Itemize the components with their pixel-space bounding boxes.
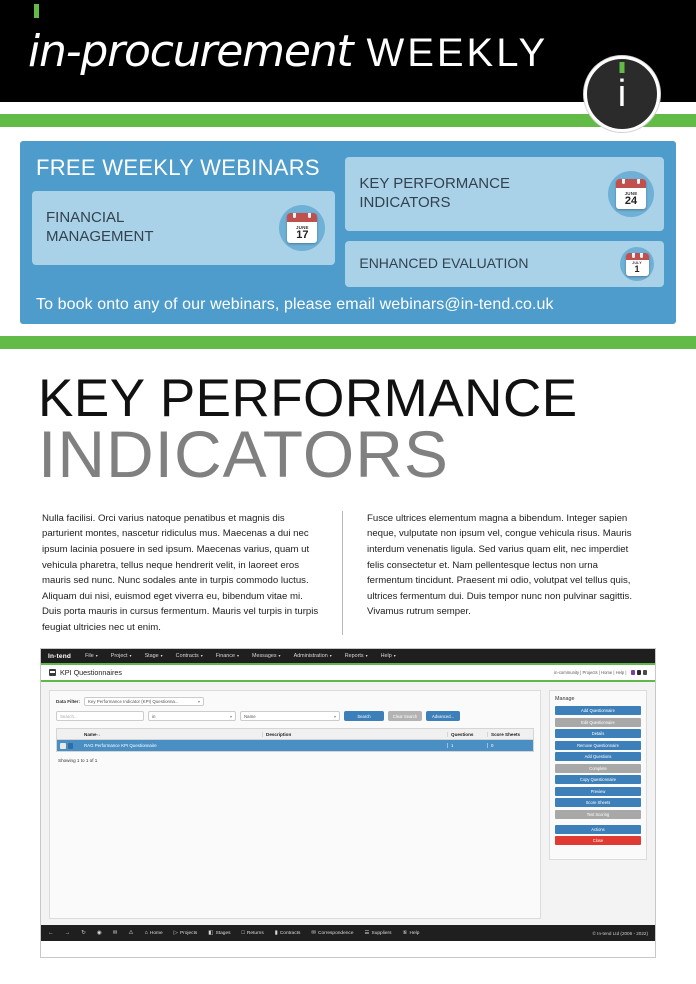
calendar-icon-top	[287, 213, 317, 222]
brand-logo: in-procurement WEEKLY	[28, 26, 548, 77]
roundel-letter: i	[618, 75, 626, 113]
export-icon[interactable]	[643, 670, 648, 675]
chevron-down-icon: ▾	[96, 653, 98, 658]
projects-icon: ▷	[174, 930, 178, 936]
app-brand-logo[interactable]: In-tend	[48, 653, 71, 660]
refresh-icon[interactable]: ↻	[81, 930, 86, 936]
webinar-card-financial-management[interactable]: FINANCIAL MANAGEMENT JUNE 17	[32, 191, 335, 265]
chevron-down-icon: ▾	[130, 653, 132, 658]
chevron-down-icon: ▾	[198, 699, 200, 704]
stages-icon: ◧	[208, 930, 213, 936]
webinar-banner-grid: FREE WEEKLY WEBINARS FINANCIAL MANAGEMEN…	[32, 151, 664, 287]
test-scoring-button[interactable]: Test Scoring	[555, 810, 641, 819]
copyright-text: © In-tend Ltd (2006 - 2022)	[593, 931, 648, 936]
table-column-score-sheets[interactable]: Score Sheets	[487, 732, 533, 737]
chevron-down-icon: ▾	[366, 653, 368, 658]
webinar-banner-left: FREE WEEKLY WEBINARS FINANCIAL MANAGEMEN…	[32, 151, 335, 287]
nav-item-messages[interactable]: Messages▾	[252, 653, 281, 659]
data-filter-row: Data Filter: Key Performance Indicator (…	[56, 697, 534, 706]
chevron-down-icon: ▾	[279, 653, 281, 658]
nav-item-administration[interactable]: Administration▾	[294, 653, 332, 659]
search-input[interactable]: Search...	[56, 711, 144, 721]
calendar-icon-body: JUNE 24	[616, 188, 646, 209]
webinar-card-key-performance-indicators[interactable]: KEY PERFORMANCE INDICATORS JUNE 24	[345, 157, 664, 231]
app-content-area: KPI Questionnaires in-community | Projec…	[41, 665, 655, 941]
webinar-card-label: KEY PERFORMANCE INDICATORS	[359, 175, 510, 213]
calendar-ring-left	[632, 253, 635, 258]
advanced-search-button[interactable]: Advanced...	[426, 711, 460, 721]
breadcrumb-text[interactable]: in-community | Projects | Home | Help |	[554, 670, 626, 675]
add-questions-button[interactable]: Add Questions	[555, 752, 641, 761]
chevron-down-icon: ▾	[334, 714, 336, 719]
row-score-sheets: 0	[487, 743, 533, 748]
webinar-card-label-line2: INDICATORS	[359, 194, 510, 213]
row-name: RAG Performance KPI Questionnaire	[81, 743, 262, 748]
complete-button[interactable]: Complete	[555, 764, 641, 773]
search-field-select[interactable]: Name ▾	[240, 711, 340, 721]
calendar-ring-right	[308, 213, 311, 218]
footer-help-link[interactable]: ⑥Help	[403, 930, 420, 936]
chevron-down-icon: ▾	[394, 653, 396, 658]
search-button[interactable]: Search	[344, 711, 384, 721]
footer-contracts-link[interactable]: ▮Contracts	[275, 930, 301, 936]
remove-questionnaire-button[interactable]: Remove Questionnaire	[555, 741, 641, 750]
preview-button[interactable]: Preview	[555, 787, 641, 796]
calendar-ring-left	[622, 179, 625, 184]
calendar-ring-left	[293, 213, 296, 218]
save-icon[interactable]	[637, 670, 642, 675]
app-page-header-left: KPI Questionnaires	[49, 668, 122, 677]
edit-questionnaire-button[interactable]: Edit Questionnaire	[555, 718, 641, 727]
add-questionnaire-button[interactable]: Add Questionnaire	[555, 706, 641, 715]
data-filter-label: Data Filter:	[56, 699, 80, 704]
table-row[interactable]: RAG Performance KPI Questionnaire 1 0	[57, 740, 533, 751]
app-top-navbar: In-tend File▾ Project▾ Stage▾ Contracts▾…	[41, 649, 655, 665]
webinar-banner: FREE WEEKLY WEBINARS FINANCIAL MANAGEMEN…	[20, 141, 676, 324]
score-sheets-button[interactable]: Score Sheets	[555, 798, 641, 807]
headline-line-2: INDICATORS	[38, 421, 658, 487]
manage-panel-title: Manage	[555, 696, 641, 702]
logo-sub-text: WEEKLY	[366, 31, 548, 76]
details-button[interactable]: Details	[555, 729, 641, 738]
search-field-value: Name	[244, 714, 256, 719]
search-operator-value: in	[152, 714, 155, 719]
page-title: KPI Questionnaires	[60, 668, 122, 677]
calendar-badge: JUNE 24	[608, 171, 654, 217]
breadcrumb[interactable]: in-community | Projects | Home | Help |	[554, 670, 647, 675]
data-filter-value: Key Performance Indicator (KPI) Question…	[88, 699, 179, 704]
webinar-card-label-line1: FINANCIAL	[46, 209, 154, 228]
calendar-badge: JULY 1	[620, 247, 654, 281]
nav-item-reports[interactable]: Reports▾	[345, 653, 368, 659]
row-questions: 1	[447, 743, 487, 748]
rule-zone	[0, 324, 696, 349]
breadcrumb-icons	[631, 670, 648, 675]
footer-suppliers-link[interactable]: ☰Suppliers	[365, 930, 392, 936]
webinar-banner-title: FREE WEEKLY WEBINARS	[36, 155, 335, 181]
search-row: Search... in ▾ Name ▾ Search Clear Searc…	[56, 711, 534, 721]
calendar-ring-right	[637, 179, 640, 184]
nav-item-help[interactable]: Help▾	[381, 653, 396, 659]
print-icon[interactable]	[631, 670, 636, 675]
search-operator-select[interactable]: in ▾	[148, 711, 236, 721]
data-filter-select[interactable]: Key Performance Indicator (KPI) Question…	[84, 697, 204, 706]
logo-green-tick-icon	[34, 4, 39, 18]
chevron-down-icon: ▾	[330, 653, 332, 658]
app-page-header: KPI Questionnaires in-community | Projec…	[41, 665, 655, 682]
webinar-card-enhanced-evaluation[interactable]: ENHANCED EVALUATION JULY 1	[345, 241, 664, 287]
forward-icon[interactable]: →	[65, 930, 71, 936]
nav-item-contracts[interactable]: Contracts▾	[176, 653, 203, 659]
row-action-icons	[57, 743, 81, 749]
calendar-day: 17	[296, 230, 308, 241]
back-icon[interactable]: ←	[48, 930, 54, 936]
webinar-banner-zone: FREE WEEKLY WEBINARS FINANCIAL MANAGEMEN…	[0, 127, 696, 324]
mail-icon[interactable]: ✉	[113, 930, 118, 936]
calendar-day: 1	[634, 265, 639, 274]
document-icon[interactable]	[60, 743, 66, 749]
alert-icon[interactable]: ⚠	[128, 930, 133, 936]
nav-item-finance[interactable]: Finance▾	[216, 653, 239, 659]
footer-projects-link[interactable]: ▷Projects	[174, 930, 198, 936]
table-header-row: Name↑↓ Description Questions Score Sheet…	[57, 729, 533, 740]
app-footer-toolbar: ← → ↻ ◉ ✉ ⚠ ⌂Home ▷Projects ◧Stages □Ret…	[41, 925, 655, 941]
footer-stages-link[interactable]: ◧Stages	[208, 930, 230, 936]
returns-icon: □	[242, 930, 245, 936]
pagination-status: Showing 1 to 1 of 1	[56, 758, 534, 763]
webinar-card-label: FINANCIAL MANAGEMENT	[46, 209, 154, 247]
logo-main-text: in-procurement	[28, 26, 352, 77]
nav-item-stage[interactable]: Stage▾	[145, 653, 163, 659]
questionnaire-icon	[49, 669, 56, 676]
questionnaires-panel: Data Filter: Key Performance Indicator (…	[49, 690, 541, 919]
calendar-icon: JUNE 24	[616, 179, 646, 209]
calendar-icon: JULY 1	[626, 253, 649, 276]
webinar-card-label-line1: KEY PERFORMANCE	[359, 175, 510, 194]
clear-search-button[interactable]: Clear Search	[388, 711, 422, 721]
webinar-booking-text: To book onto any of our webinars, please…	[36, 296, 664, 314]
calendar-icon-body: JULY 1	[626, 260, 649, 276]
in-tend-roundel-logo: i	[584, 56, 660, 132]
green-rule-bottom	[0, 336, 696, 349]
questionnaires-table: Name↑↓ Description Questions Score Sheet…	[56, 728, 534, 752]
calendar-icon: JUNE 17	[287, 213, 317, 243]
webinar-card-label-line2: MANAGEMENT	[46, 228, 154, 247]
article-headline: KEY PERFORMANCE INDICATORS	[0, 349, 696, 487]
body-column-1: Nulla facilisi. Orci varius natoque pena…	[42, 511, 342, 635]
suppliers-icon: ☰	[365, 930, 370, 936]
footer-correspondence-link[interactable]: ✉Correspondence	[311, 930, 353, 936]
webinar-banner-right: KEY PERFORMANCE INDICATORS JUNE 24	[345, 151, 664, 287]
actions-button[interactable]: Actions	[555, 825, 641, 834]
correspondence-icon: ✉	[311, 930, 316, 936]
contracts-icon: ▮	[275, 930, 278, 936]
nav-item-file[interactable]: File▾	[85, 653, 98, 659]
table-column-questions[interactable]: Questions	[447, 732, 487, 737]
folder-icon[interactable]	[68, 743, 74, 749]
copy-questionnaire-button[interactable]: Copy Questionnaire	[555, 775, 641, 784]
chevron-down-icon: ▾	[230, 714, 232, 719]
footer-home-link[interactable]: ⌂Home	[144, 930, 162, 936]
webinar-card-label: ENHANCED EVALUATION	[359, 255, 528, 273]
calendar-ring-right	[640, 253, 643, 258]
footer-icon-group: ← → ↻ ◉ ✉ ⚠ ⌂Home ▷Projects ◧Stages □Ret…	[48, 930, 430, 936]
footer-returns-link[interactable]: □Returns	[242, 930, 264, 936]
chevron-down-icon: ▾	[201, 653, 203, 658]
view-icon[interactable]: ◉	[97, 930, 102, 936]
calendar-icon-body: JUNE 17	[287, 222, 317, 243]
body-column-2: Fusce ultrices elementum magna a bibendu…	[343, 511, 643, 635]
home-icon: ⌂	[144, 930, 147, 936]
table-column-description[interactable]: Description	[262, 732, 447, 737]
close-button[interactable]: Close	[555, 836, 641, 845]
app-screenshot: In-tend File▾ Project▾ Stage▾ Contracts▾…	[40, 648, 656, 958]
table-column-name[interactable]: Name↑↓	[81, 732, 262, 737]
manage-panel: Manage Add Questionnaire Edit Questionna…	[549, 690, 647, 860]
nav-item-project[interactable]: Project▾	[111, 653, 132, 659]
sort-icon: ↑↓	[97, 733, 100, 737]
calendar-icon-top	[616, 179, 646, 188]
calendar-badge: JUNE 17	[279, 205, 325, 251]
calendar-day: 24	[625, 196, 637, 207]
help-icon: ⑥	[403, 930, 408, 936]
article-body: Nulla facilisi. Orci varius natoque pena…	[0, 487, 696, 635]
calendar-icon-top	[626, 253, 649, 260]
chevron-down-icon: ▾	[237, 653, 239, 658]
chevron-down-icon: ▾	[161, 653, 163, 658]
